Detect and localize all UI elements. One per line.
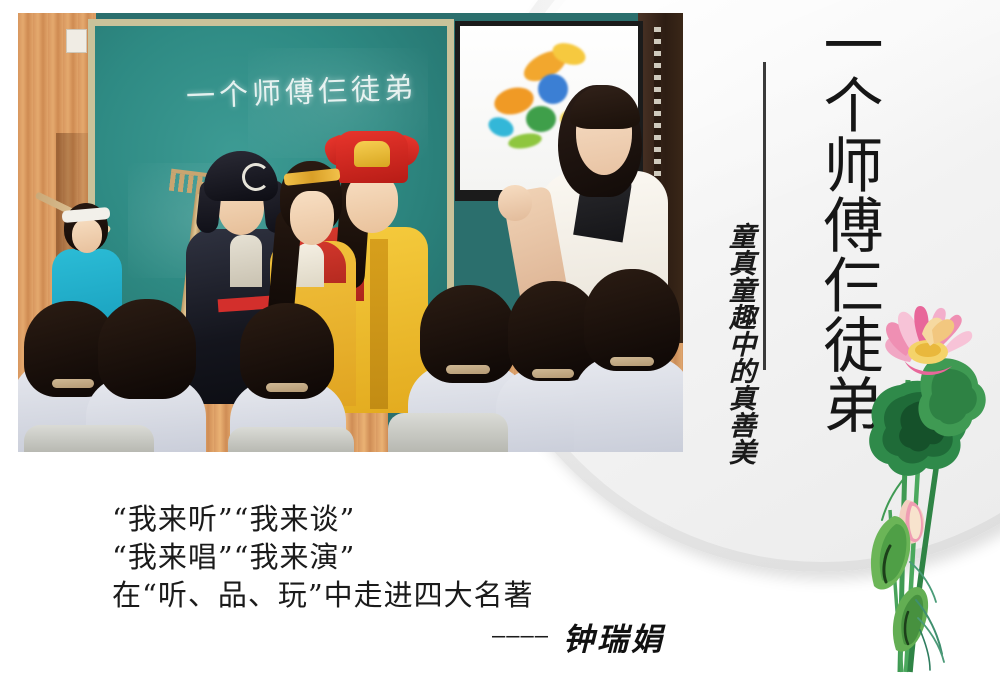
photo-student-collar-1	[52, 379, 94, 388]
title-divider-rule	[763, 62, 766, 370]
photo-student-body-6	[574, 357, 683, 452]
page-subtitle: 童真童趣中的真善美	[715, 222, 759, 465]
photo-student-collar-4	[446, 365, 490, 374]
photo-king-hat-ornament	[354, 141, 390, 167]
photo-child-blue-face	[72, 219, 102, 253]
classroom-photo: 一个师傅仨徒弟	[18, 13, 683, 452]
photo-student-collar-6	[610, 357, 654, 366]
slide-blob-green	[526, 106, 556, 132]
attribution: ———— 钟瑞娟	[492, 614, 665, 659]
quote-line-1: “我来听”“我来谈”	[112, 500, 534, 538]
quote-block: “我来听”“我来谈” “我来唱”“我来演” 在“听、品、玩”中走进四大名著	[112, 500, 534, 614]
photo-light-switch	[66, 29, 87, 53]
quote-line-3: 在“听、品、玩”中走进四大名著	[112, 576, 534, 614]
photo-monk-inner-robe	[230, 235, 262, 287]
poster-canvas: 一个师傅仨徒弟	[0, 0, 1000, 685]
photo-teacher-hand	[498, 185, 532, 221]
photo-chair-2	[228, 427, 354, 452]
slide-blob-cyan	[486, 114, 517, 140]
photo-monk-hat-swirl	[242, 163, 270, 191]
photo-chalkboard-text: 一个师傅仨徒弟	[185, 65, 417, 116]
attribution-dashes: ————	[492, 624, 549, 649]
lotus-leaf-right	[918, 358, 985, 436]
attribution-name: 钟瑞娟	[563, 614, 665, 659]
slide-blob-lime	[507, 131, 543, 151]
quote-line-2: “我来唱”“我来演”	[112, 538, 534, 576]
photo-student-collar-5	[532, 369, 574, 378]
photo-chair-1	[24, 425, 154, 452]
photo-king-robe-fold	[370, 239, 388, 409]
lotus-illustration	[860, 300, 1000, 685]
photo-girl-face	[290, 191, 334, 245]
photo-chair-3	[388, 413, 508, 452]
photo-student-head-2	[98, 299, 196, 399]
slide-blob-blue	[538, 74, 568, 104]
photo-student-collar-3	[266, 383, 308, 392]
photo-student-head-6	[584, 269, 680, 371]
